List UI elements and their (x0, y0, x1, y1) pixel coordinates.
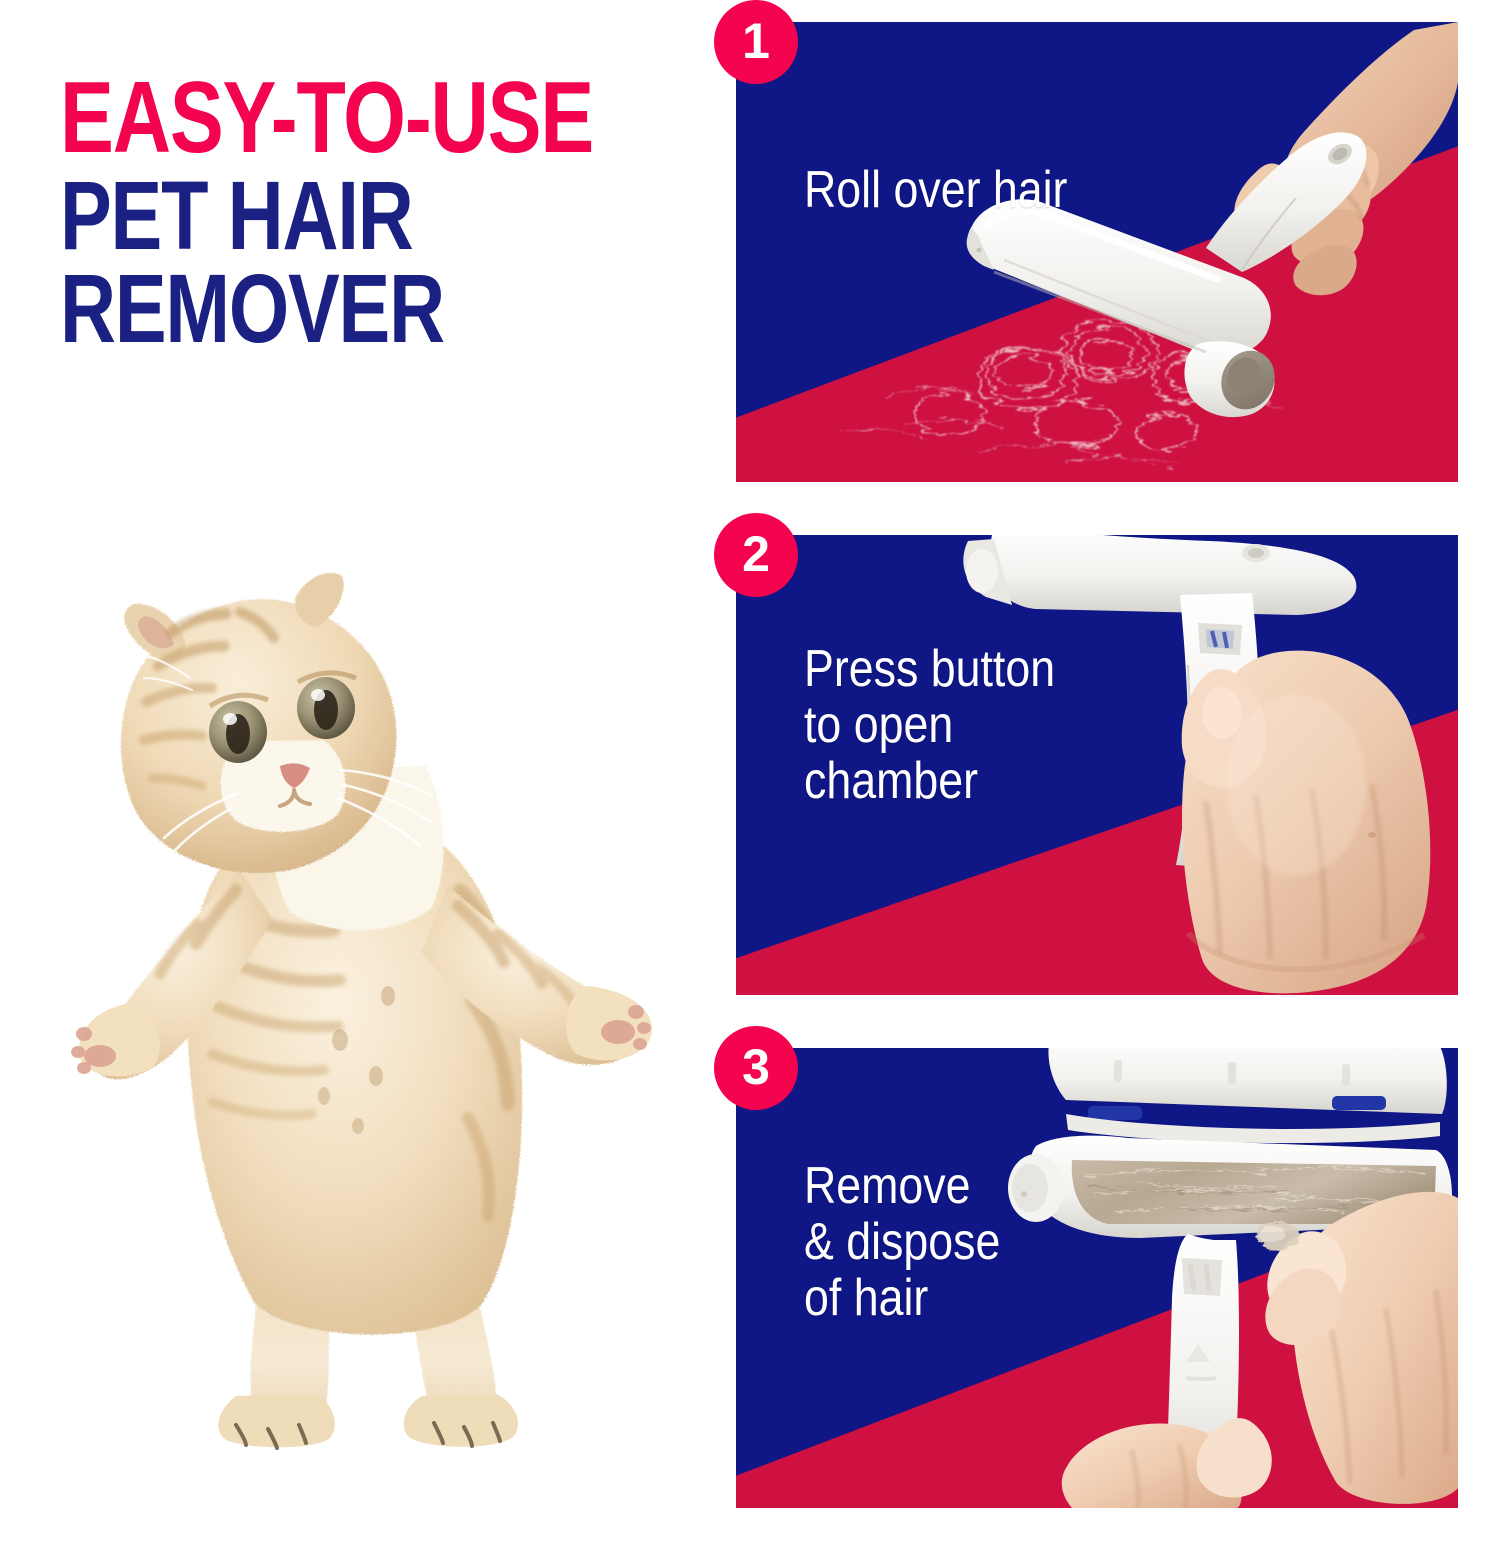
step-panels: 1 Roll over hair (736, 22, 1458, 1561)
cat-illustration (40, 520, 690, 1450)
step-1-photo (736, 22, 1458, 482)
headline-line-3: REMOVER (60, 264, 580, 353)
headline-line-2: PET HAIR (60, 171, 580, 260)
step-1-background (736, 22, 1458, 482)
left-column: EASY-TO-USE PET HAIR REMOVER (0, 0, 716, 1500)
step-1-caption: Roll over hair (804, 162, 1067, 218)
step-panel-3: 3 Remove & dispose of hair (736, 1048, 1458, 1508)
step-2-caption: Press button to open chamber (804, 641, 1055, 809)
step-panel-1: 1 Roll over hair (736, 22, 1458, 482)
page-title: EASY-TO-USE PET HAIR REMOVER (60, 72, 710, 353)
step-2-badge: 2 (714, 513, 798, 597)
step-panel-2: 2 Press button to open chamber (736, 535, 1458, 995)
cat-photo (40, 520, 690, 1450)
step-3-badge: 3 (714, 1026, 798, 1110)
headline-line-1: EASY-TO-USE (60, 72, 580, 165)
roll-over-hair-photo (736, 22, 1458, 482)
step-1-badge: 1 (714, 0, 798, 84)
step-3-caption: Remove & dispose of hair (804, 1158, 1000, 1326)
